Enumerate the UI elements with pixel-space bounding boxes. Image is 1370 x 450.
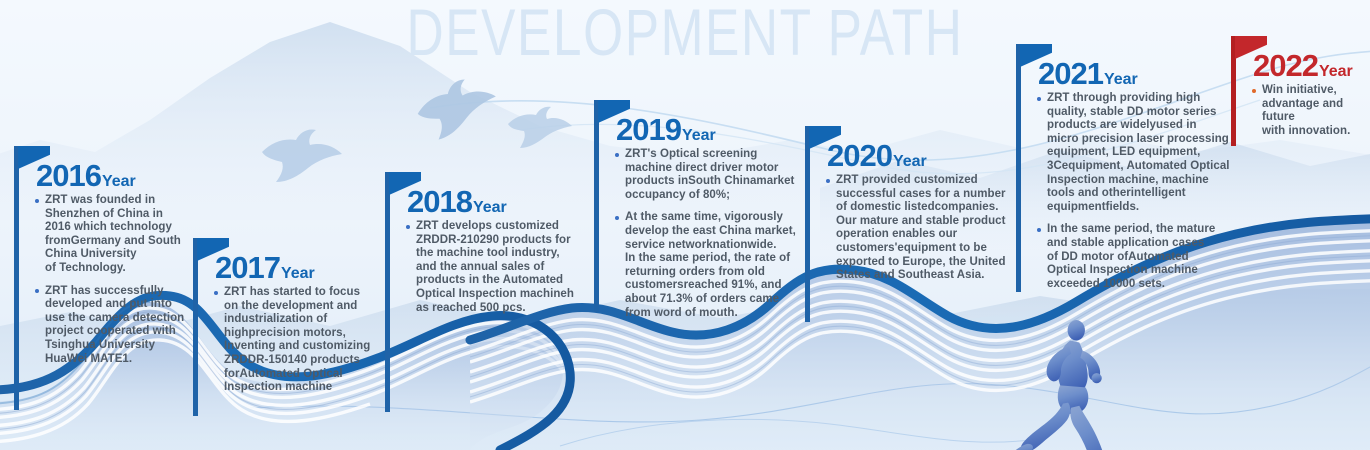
list-item: ZRT has successfully developed and put i… xyxy=(34,285,194,367)
flag-pole xyxy=(14,146,19,410)
year-suffix: Year xyxy=(1104,71,1138,88)
flag-pole xyxy=(1016,44,1021,292)
list-item-text: ZRT was founded in Shenzhen of China in … xyxy=(45,194,194,276)
year-label: 2021Year xyxy=(1038,58,1138,89)
bullet-dot-icon xyxy=(826,179,830,183)
year-suffix: Year xyxy=(893,153,927,170)
flag-pole xyxy=(594,100,599,312)
year-label: 2016Year xyxy=(36,160,136,191)
year-label: 2019Year xyxy=(616,114,716,145)
list-item-text: Win initiative, advantage and future wit… xyxy=(1262,84,1370,138)
list-item-text: ZRT has successfully developed and put i… xyxy=(45,285,194,367)
list-item-text: ZRT has started to focus on the developm… xyxy=(224,286,381,395)
year-number: 2019 xyxy=(616,112,681,147)
list-item: ZRT through providing high quality, stab… xyxy=(1036,92,1232,214)
year-number: 2022 xyxy=(1253,48,1318,83)
year-suffix: Year xyxy=(682,127,716,144)
bullet-dot-icon xyxy=(406,225,410,229)
bullet-list: ZRT provided customized successful cases… xyxy=(825,174,1009,283)
year-label: 2017Year xyxy=(215,252,315,283)
bullet-list: ZRT has started to focus on the developm… xyxy=(213,286,381,395)
list-item: ZRT provided customized successful cases… xyxy=(825,174,1009,283)
bullet-dot-icon xyxy=(615,153,619,157)
list-item: ZRT develops customized ZRDDR-210290 pro… xyxy=(405,220,585,315)
year-number: 2020 xyxy=(827,138,892,173)
bullet-dot-icon xyxy=(35,199,39,203)
list-item: ZRT was founded in Shenzhen of China in … xyxy=(34,194,194,276)
flag-pole xyxy=(193,238,198,416)
infographic-canvas: DEVELOPMENT PATH xyxy=(0,0,1370,450)
list-item-text: ZRT develops customized ZRDDR-210290 pro… xyxy=(416,220,585,315)
year-number: 2021 xyxy=(1038,56,1103,91)
flag-pole xyxy=(805,126,810,322)
list-item-text: ZRT's Optical screening machine direct d… xyxy=(625,148,802,202)
list-item: ZRT has started to focus on the developm… xyxy=(213,286,381,395)
year-suffix: Year xyxy=(1319,63,1353,80)
year-suffix: Year xyxy=(281,265,315,282)
list-item: ZRT's Optical screening machine direct d… xyxy=(614,148,802,202)
bullet-dot-icon xyxy=(1252,89,1256,93)
bullet-list: Win initiative, advantage and future wit… xyxy=(1251,84,1370,138)
year-label: 2020Year xyxy=(827,140,927,171)
list-item: In the same period, the mature and stabl… xyxy=(1036,223,1232,291)
bullet-list: ZRT through providing high quality, stab… xyxy=(1036,92,1232,291)
list-item: At the same time, vigorously develop the… xyxy=(614,211,802,320)
bullet-dot-icon xyxy=(1037,228,1041,232)
bullet-list: ZRT's Optical screening machine direct d… xyxy=(614,148,802,320)
bullet-list: ZRT was founded in Shenzhen of China in … xyxy=(34,194,194,366)
bullet-dot-icon xyxy=(214,291,218,295)
year-number: 2017 xyxy=(215,250,280,285)
bullet-dot-icon xyxy=(35,289,39,293)
flag-pole xyxy=(385,172,390,412)
bullet-list: ZRT develops customized ZRDDR-210290 pro… xyxy=(405,220,585,315)
list-item-text: ZRT provided customized successful cases… xyxy=(836,174,1009,283)
year-number: 2018 xyxy=(407,184,472,219)
year-suffix: Year xyxy=(473,199,507,216)
year-suffix: Year xyxy=(102,173,136,190)
list-item-text: In the same period, the mature and stabl… xyxy=(1047,223,1232,291)
bullet-dot-icon xyxy=(1037,97,1041,101)
bullet-dot-icon xyxy=(615,216,619,220)
list-item-text: At the same time, vigorously develop the… xyxy=(625,211,802,320)
year-label: 2018Year xyxy=(407,186,507,217)
year-number: 2016 xyxy=(36,158,101,193)
year-label: 2022Year xyxy=(1253,50,1353,81)
list-item: Win initiative, advantage and future wit… xyxy=(1251,84,1370,138)
list-item-text: ZRT through providing high quality, stab… xyxy=(1047,92,1232,214)
